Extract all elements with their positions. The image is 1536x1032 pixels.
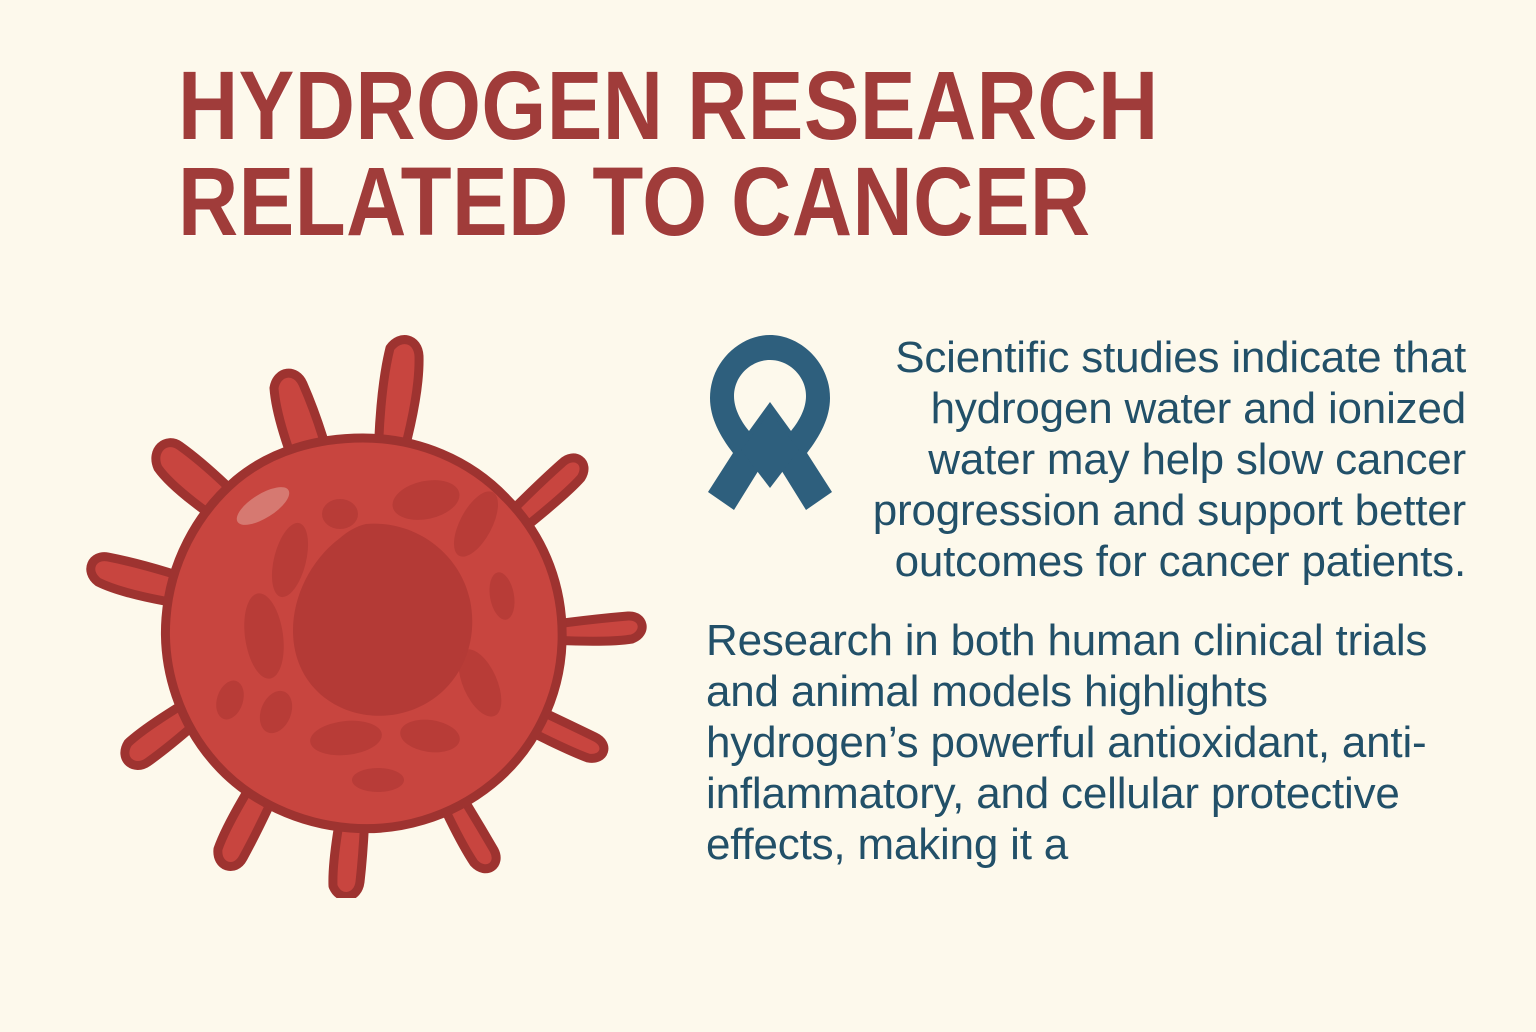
infographic-poster: HYDROGEN RESEARCH RELATED TO CANCER	[0, 0, 1536, 1024]
body-text-column: Scientific studies indicate that hydroge…	[706, 332, 1466, 1032]
awareness-ribbon-icon	[706, 332, 834, 537]
page-title: HYDROGEN RESEARCH RELATED TO CANCER	[178, 58, 1378, 250]
title-line-1: HYDROGEN RESEARCH	[178, 58, 1210, 154]
title-line-2: RELATED TO CANCER	[178, 154, 1210, 250]
paragraph-research-trials: Research in both human clinical trials a…	[706, 615, 1466, 870]
cancer-cell-illustration	[78, 328, 648, 898]
